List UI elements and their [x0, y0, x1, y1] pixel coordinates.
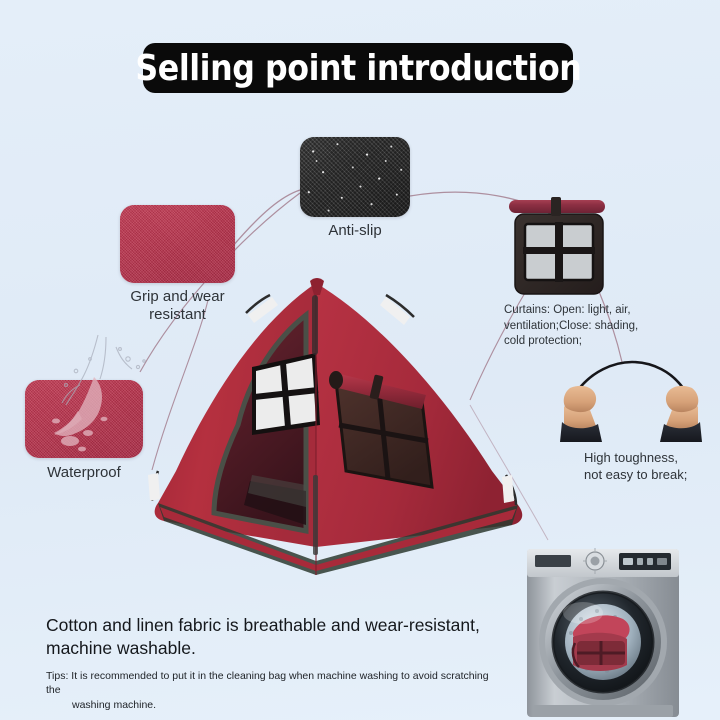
label-anti-slip: Anti-slip: [300, 222, 410, 240]
label-toughness: High toughness, not easy to break;: [584, 450, 714, 484]
connector-grip-to-antislip: [232, 190, 300, 247]
curtain-mesh-window: [523, 222, 595, 282]
bottom-description: Cotton and linen fabric is breathable an…: [46, 614, 506, 713]
curtain-strap: [551, 197, 561, 216]
washing-machine-image: [519, 537, 704, 720]
bottom-tips: Tips: It is recommended to put it in the…: [46, 669, 506, 714]
washer-base: [533, 705, 673, 717]
infographic-canvas: Selling point introduction Anti-slip Gri…: [0, 0, 720, 720]
tent-top-zipper: [312, 295, 318, 355]
washer-detergent-drawer: [535, 555, 571, 567]
label-toughness-line2: not easy to break;: [584, 467, 687, 482]
label-waterproof: Waterproof: [25, 464, 143, 482]
door-mesh-window: [252, 353, 320, 435]
headline-line1: Cotton and linen fabric is breathable an…: [46, 615, 480, 635]
washer-door-highlight: [563, 602, 603, 624]
headline-line2: machine washable.: [46, 638, 196, 658]
swatch-grip-wear-resistant: [120, 205, 235, 283]
tent-front-zipper: [313, 475, 318, 555]
page-title: Selling point introduction: [135, 48, 581, 89]
label-toughness-line1: High toughness,: [584, 450, 678, 465]
tips-line1: Tips: It is recommended to put it in the…: [46, 670, 489, 697]
swatch-waterproof: [25, 380, 143, 458]
swatch-anti-slip: [300, 137, 410, 217]
bottom-headline: Cotton and linen fabric is breathable an…: [46, 614, 506, 661]
right-hand: [660, 386, 702, 442]
page-title-banner: Selling point introduction: [143, 43, 573, 93]
anti-slip-texture: [300, 137, 410, 217]
tips-line2: washing machine.: [46, 698, 506, 713]
